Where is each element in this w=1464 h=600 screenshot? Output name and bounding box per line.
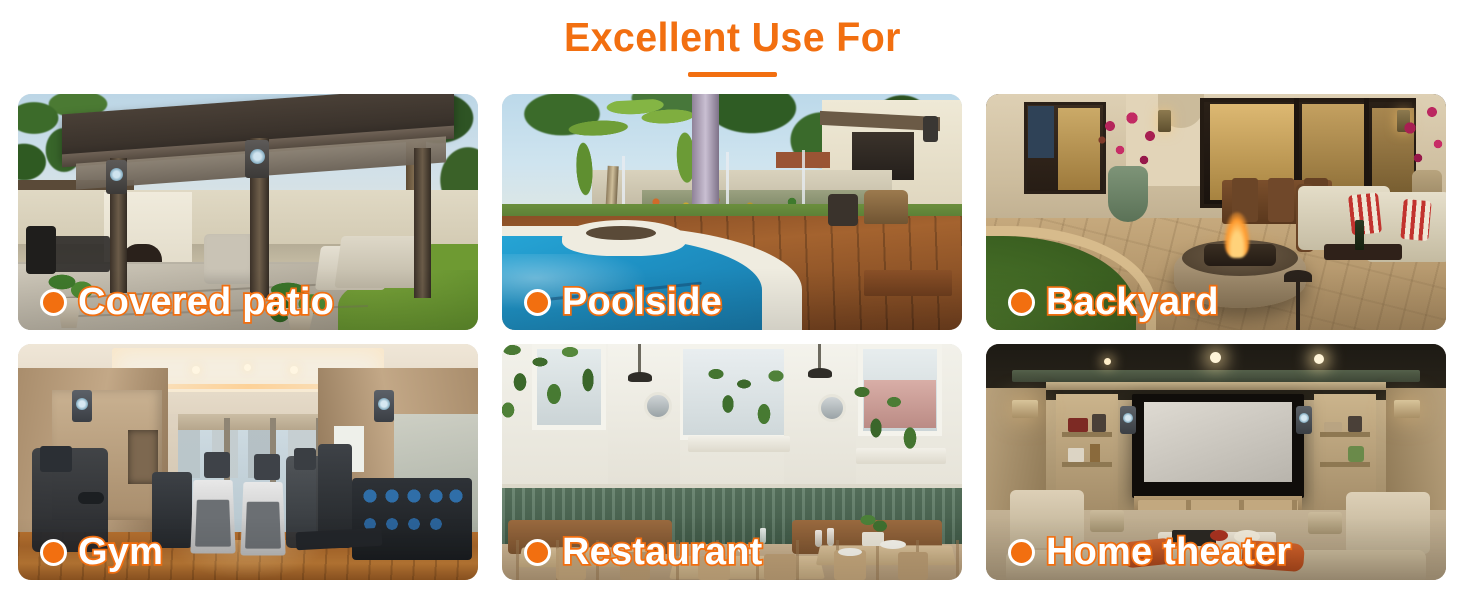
card-label-text: Covered patio	[78, 282, 334, 322]
card-label-home-theater: Home theater	[1008, 532, 1291, 572]
use-case-card-home-theater[interactable]: Home theater	[986, 344, 1446, 580]
card-label-text: Home theater	[1046, 532, 1291, 572]
projection-screen	[1144, 402, 1292, 482]
filled-circle-icon	[1008, 289, 1035, 316]
card-label-poolside: Poolside	[524, 282, 722, 322]
card-label-gym: Gym	[40, 532, 163, 572]
page-title: Excellent Use For	[564, 14, 901, 60]
card-label-covered-patio: Covered patio	[40, 282, 334, 322]
filled-circle-icon	[40, 539, 67, 566]
card-label-text: Poolside	[562, 282, 722, 322]
use-case-card-covered-patio[interactable]: Covered patio	[18, 94, 478, 330]
filled-circle-icon	[1008, 539, 1035, 566]
filled-circle-icon	[524, 539, 551, 566]
card-label-restaurant: Restaurant	[524, 532, 763, 572]
use-case-grid: Covered patio	[18, 94, 1446, 580]
outdoor-speaker-icon	[923, 116, 938, 142]
excellent-use-for-banner: Excellent Use For	[0, 0, 1464, 600]
card-label-text: Backyard	[1046, 282, 1219, 322]
banner-header: Excellent Use For	[0, 0, 1464, 94]
use-case-card-gym[interactable]: Gym	[18, 344, 478, 580]
use-case-card-backyard[interactable]: Backyard	[986, 94, 1446, 330]
card-label-text: Gym	[78, 532, 163, 572]
filled-circle-icon	[524, 289, 551, 316]
card-label-text: Restaurant	[562, 532, 763, 572]
title-underline-bar	[688, 72, 777, 77]
filled-circle-icon	[40, 289, 67, 316]
use-case-card-poolside[interactable]: Poolside	[502, 94, 962, 330]
card-label-backyard: Backyard	[1008, 282, 1219, 322]
use-case-card-restaurant[interactable]: Restaurant	[502, 344, 962, 580]
